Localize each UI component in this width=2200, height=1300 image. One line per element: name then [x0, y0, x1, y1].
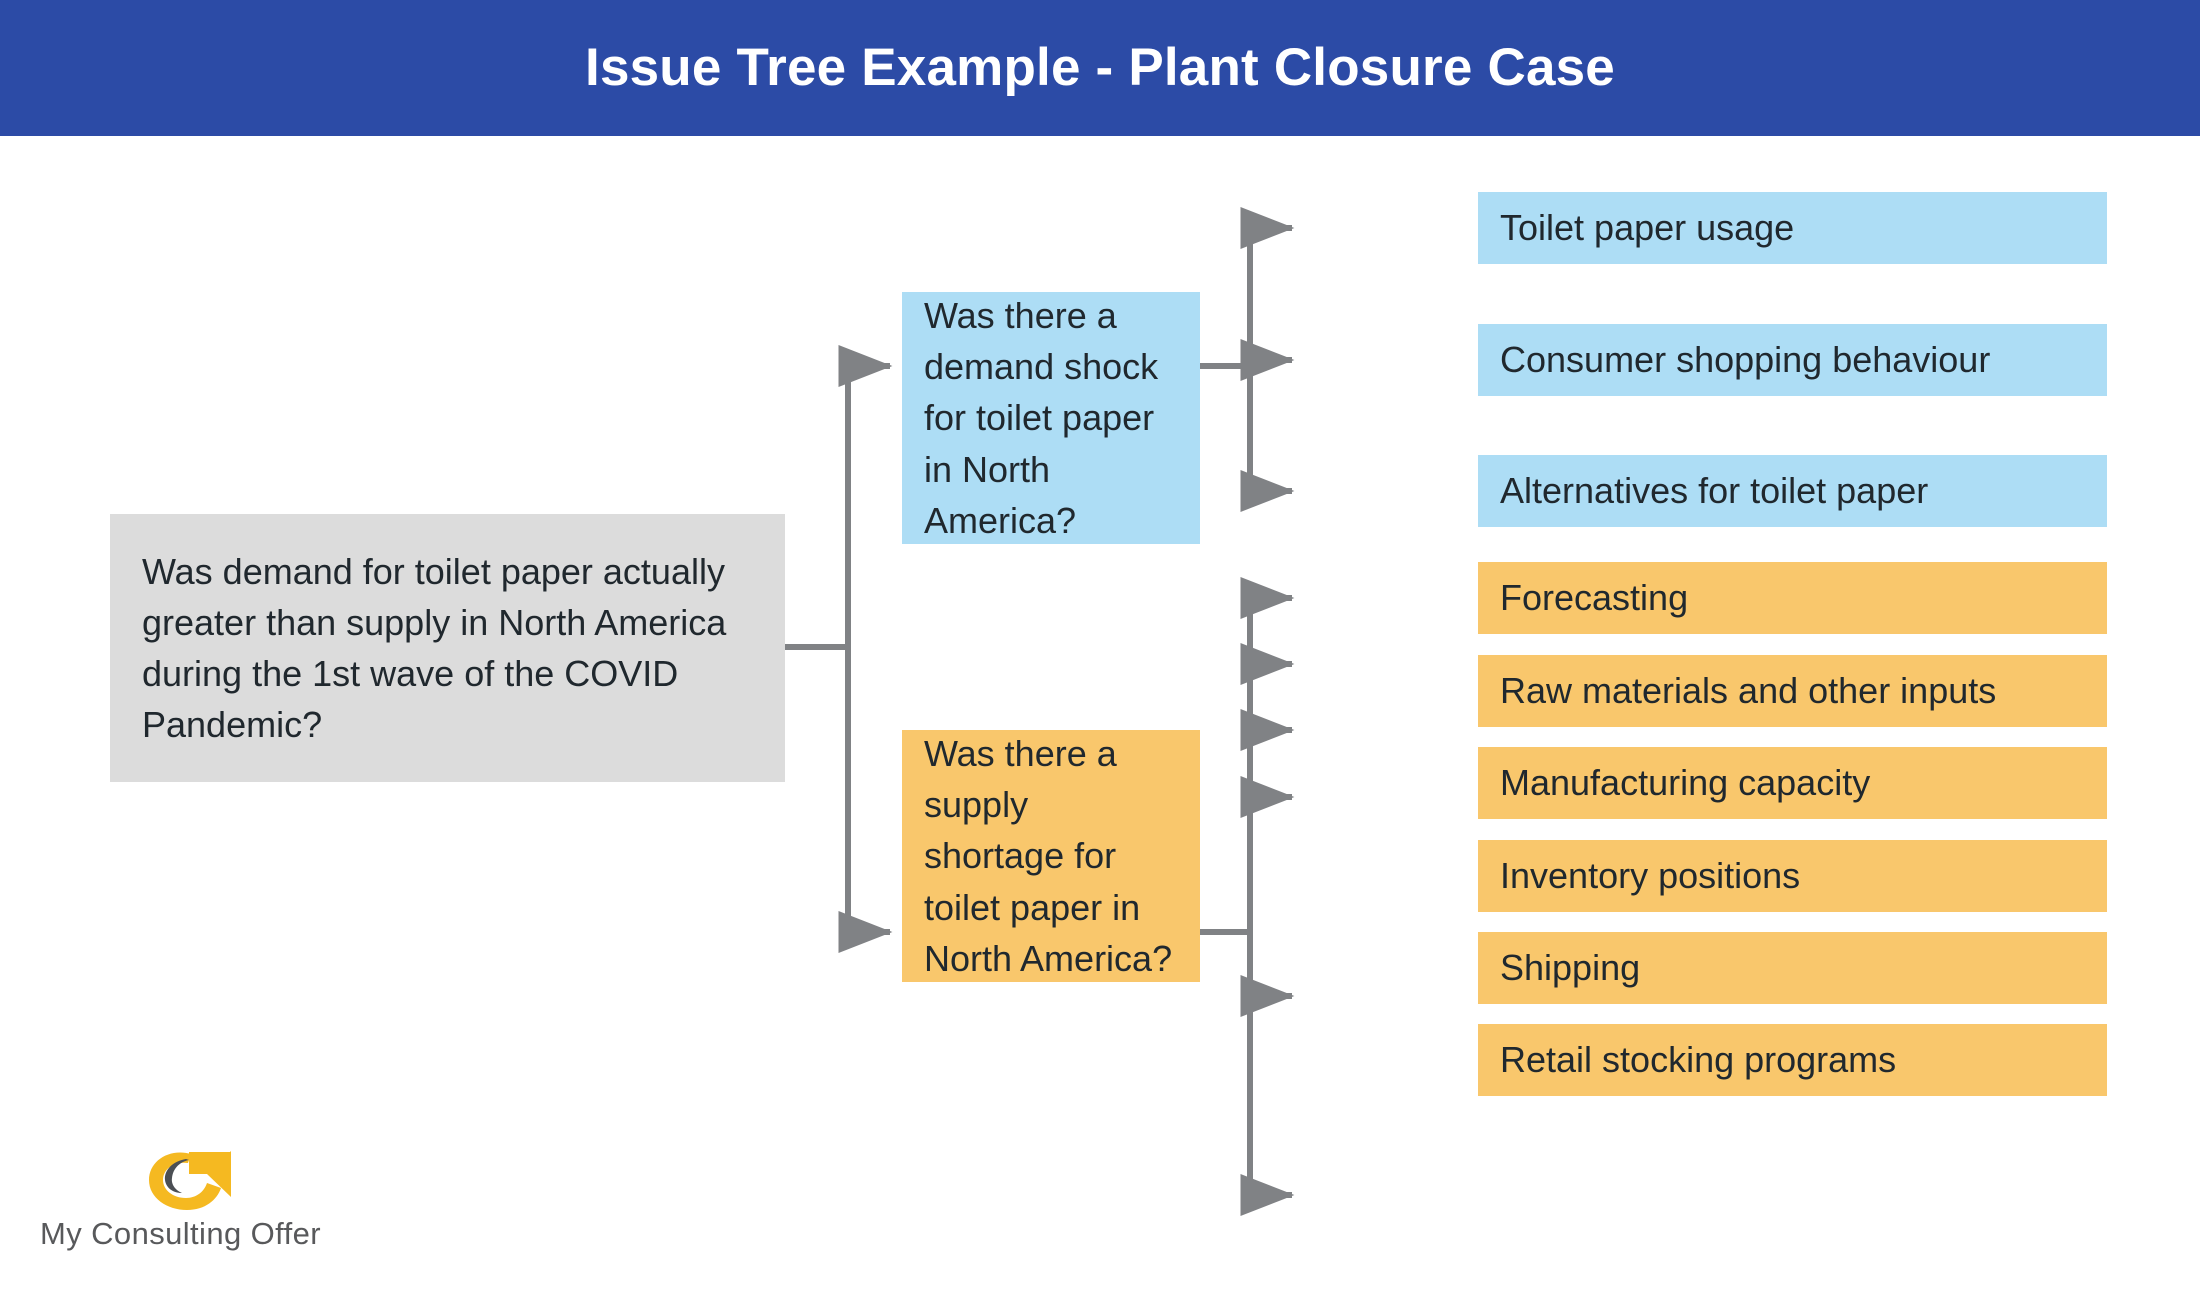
leaf-node-supply-4-label: Inventory positions: [1500, 850, 2087, 901]
leaf-node-supply-2-label: Raw materials and other inputs: [1500, 665, 2087, 716]
root-node-label: Was demand for toilet paper actually gre…: [142, 546, 757, 750]
leaf-node-supply-3-label: Manufacturing capacity: [1500, 757, 2087, 808]
leaf-node-demand-1[interactable]: Toilet paper usage: [1478, 192, 2107, 264]
root-node[interactable]: Was demand for toilet paper actually gre…: [110, 514, 785, 782]
leaf-node-demand-2[interactable]: Consumer shopping behaviour: [1478, 324, 2107, 396]
branch-node-supply[interactable]: Was there a supply shortage for toilet p…: [902, 730, 1200, 982]
leaf-node-supply-4[interactable]: Inventory positions: [1478, 840, 2107, 912]
leaf-node-supply-6[interactable]: Retail stocking programs: [1478, 1024, 2107, 1096]
logo: My Consulting Offer: [40, 1150, 370, 1280]
branch-node-supply-label: Was there a supply shortage for toilet p…: [924, 728, 1178, 984]
leaf-node-demand-3[interactable]: Alternatives for toilet paper: [1478, 455, 2107, 527]
leaf-node-supply-1[interactable]: Forecasting: [1478, 562, 2107, 634]
leaf-node-demand-1-label: Toilet paper usage: [1500, 202, 2087, 253]
leaf-node-supply-2[interactable]: Raw materials and other inputs: [1478, 655, 2107, 727]
branch-node-demand-label: Was there a demand shock for toilet pape…: [924, 290, 1178, 546]
branch-node-demand[interactable]: Was there a demand shock for toilet pape…: [902, 292, 1200, 544]
connector-supply-leaves: [1200, 598, 1292, 1195]
page-title: Issue Tree Example - Plant Closure Case: [585, 39, 1615, 97]
issue-tree-diagram: Was demand for toilet paper actually gre…: [0, 136, 2200, 1300]
logo-wordmark: My Consulting Offer: [40, 1216, 370, 1252]
leaf-node-supply-3[interactable]: Manufacturing capacity: [1478, 747, 2107, 819]
leaf-node-supply-6-label: Retail stocking programs: [1500, 1034, 2087, 1085]
connector-demand-leaves: [1200, 228, 1292, 491]
leaf-node-supply-5-label: Shipping: [1500, 942, 2087, 993]
connector-root-to-branches: [785, 366, 848, 932]
leaf-node-demand-2-label: Consumer shopping behaviour: [1500, 334, 2087, 385]
leaf-node-supply-1-label: Forecasting: [1500, 572, 2087, 623]
swoosh-arrow-icon: [145, 1150, 235, 1212]
leaf-node-demand-3-label: Alternatives for toilet paper: [1500, 465, 2087, 516]
header-banner: Issue Tree Example - Plant Closure Case: [0, 0, 2200, 136]
leaf-node-supply-5[interactable]: Shipping: [1478, 932, 2107, 1004]
slide-canvas: Issue Tree Example - Plant Closure Case: [0, 0, 2200, 1300]
